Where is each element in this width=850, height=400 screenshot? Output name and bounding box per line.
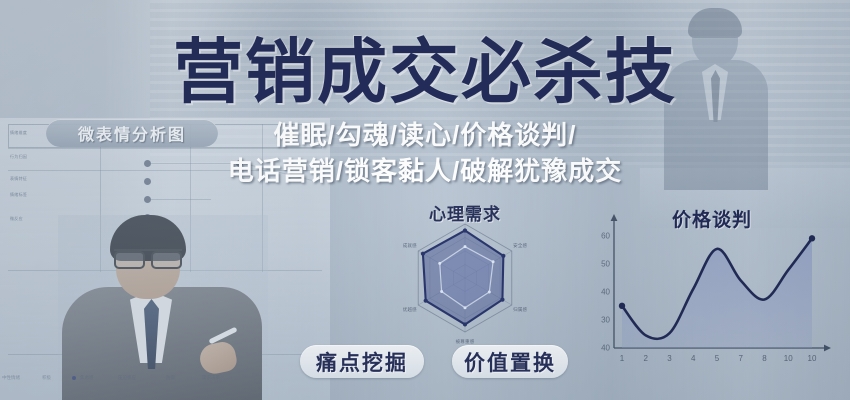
button-pain-point-mining[interactable]: 痛点挖掘 — [300, 345, 424, 378]
x-axis-tick-label: 7 — [739, 354, 743, 363]
legend-item: 需求决策 — [202, 375, 220, 381]
marketing-banner: 情绪维度 行为归因 表情特征 情绪标签 微反应 中性情绪 积极 — [0, 0, 850, 400]
x-axis-tick-label: 8 — [762, 354, 766, 363]
legend-item: 中性情绪 — [2, 375, 20, 381]
radar-axis-label: 归属感 — [513, 307, 527, 313]
radar-chart-psychological-needs: 心理需求 信赖安全感归属感被尊重感优越感成就感 — [340, 200, 590, 350]
subtitle-line-2: 电话营销/锁客黏人/破解犹豫成交 — [0, 156, 850, 187]
radar-axis-label: 成就感 — [403, 243, 417, 249]
legend-active-dot — [72, 376, 76, 380]
y-axis-tick-label: 30 — [601, 316, 610, 325]
legend-item: 压迫感应 — [118, 375, 136, 381]
legend-item: 防御 — [166, 375, 175, 381]
button-value-exchange[interactable]: 价值置换 — [452, 345, 568, 378]
x-axis-tick-label: 2 — [644, 354, 648, 363]
x-axis-tick-label: 4 — [691, 354, 695, 363]
sheet-legend-strip: 中性情绪 积极 焦虑感 压迫感应 防御 需求决策 — [0, 370, 260, 386]
line-chart-title: 价格谈判 — [588, 205, 836, 232]
y-axis-tick-label: 60 — [601, 232, 610, 241]
badge-micro-expression: 微表情分析图 — [46, 119, 218, 147]
x-axis-tick-label: 10 — [808, 354, 817, 363]
page-title: 营销成交必杀技 — [0, 36, 850, 108]
radar-axis-label: 安全感 — [513, 243, 527, 249]
sheet-row-label: 情绪标签 — [10, 192, 27, 198]
legend-item: 积极 — [42, 375, 51, 381]
radar-axis-label: 优越感 — [403, 307, 417, 313]
x-axis-tick-label: 1 — [620, 354, 624, 363]
radar-axis-label: 被尊重感 — [456, 339, 475, 345]
y-axis-tick-label: 40 — [601, 288, 610, 297]
line-chart-price-negotiation: 价格谈判 123457810106050403040 — [588, 200, 836, 380]
x-axis-tick-label: 10 — [784, 354, 793, 363]
x-axis-tick-label: 3 — [667, 354, 671, 363]
y-axis-tick-label: 40 — [601, 344, 610, 353]
legend-item-active: 焦虑感 — [80, 375, 94, 381]
y-axis-tick-label: 50 — [601, 260, 610, 269]
x-axis-tick-label: 5 — [715, 354, 719, 363]
sheet-row-label: 微反应 — [10, 216, 23, 222]
radar-axis-label: 信赖 — [460, 211, 469, 217]
